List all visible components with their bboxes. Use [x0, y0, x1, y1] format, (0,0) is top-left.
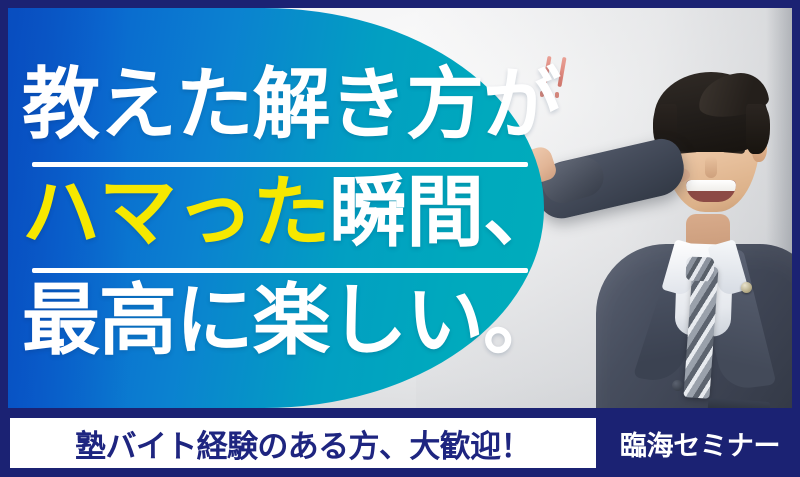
smiling-mouth — [686, 180, 736, 202]
headline-line-2-plain: 瞬間、 — [329, 168, 560, 258]
headline-divider-1 — [32, 162, 528, 167]
headline-line-3: 最高に楽しい。 — [22, 282, 560, 360]
recruitment-banner: 教えた解き方が ハマった瞬間、 最高に楽しい。 塾バイト経験のある方、大歓迎！ … — [0, 0, 800, 477]
tagline-text: 塾バイト経験のある方、大歓迎！ — [75, 421, 531, 466]
headline-line-2-accent: ハマった — [22, 168, 329, 258]
hair-side-right — [746, 104, 770, 154]
brand-logo-text: 臨海セミナー — [608, 418, 792, 468]
footer-bar: 塾バイト経験のある方、大歓迎！ 臨海セミナー — [0, 408, 800, 477]
teeth — [686, 180, 736, 191]
headline-divider-2 — [32, 268, 528, 273]
lapel-pin-icon — [741, 282, 752, 293]
necktie-knot — [686, 257, 715, 282]
tagline-box: 塾バイト経験のある方、大歓迎！ — [10, 418, 596, 468]
nose — [705, 156, 717, 178]
headline-line-1: 教えた解き方が — [22, 66, 560, 144]
headline-line-2: ハマった瞬間、 — [22, 174, 560, 252]
jacket-button — [672, 380, 683, 391]
headline-block: 教えた解き方が ハマった瞬間、 最高に楽しい。 — [8, 8, 544, 408]
